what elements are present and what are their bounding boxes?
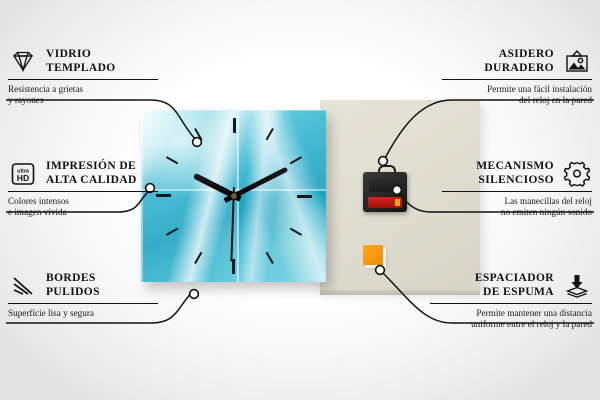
feature-divider [8,79,158,80]
feature-divider [442,79,592,80]
diamond-icon [8,49,38,75]
feature-divider [8,303,158,304]
wall-clock-product [141,110,326,282]
clock-tick [233,118,235,196]
foam-spacer-icon [562,273,592,299]
svg-text:HD: HD [17,173,29,183]
wall-hanger-icon [562,49,592,75]
feature-title: MECANISMO SILENCIOSO [476,160,554,187]
feature-espaciador-de-espuma: ESPACIADOR DE ESPUMA Permite mantener un… [430,272,592,331]
polished-edges-icon [8,273,38,299]
feature-title: ESPACIADOR DE ESPUMA [475,272,554,299]
feature-title: VIDRIO TEMPLADO [46,48,116,75]
feature-title: IMPRESIÓN DE ALTA CALIDAD [46,160,137,187]
feature-description: Superficie lisa y segura [8,308,158,319]
clock-tick [156,195,234,197]
feature-bordes-pulidos: BORDES PULIDOS Superficie lisa y segura [8,272,158,319]
feature-description: Las manecillas del reloj no emiten ningú… [442,196,592,219]
feature-header: ASIDERO DURADERO [442,48,592,75]
feature-description: Resistencia a grietas y rayones [8,84,158,107]
feature-header: MECANISMO SILENCIOSO [442,160,592,187]
feature-title: ASIDERO DURADERO [484,48,554,75]
mechanism-battery [368,197,402,208]
feature-impresion-alta-calidad: ultra HD IMPRESIÓN DE ALTA CALIDAD Color… [8,160,158,219]
feature-vidrio-templado: VIDRIO TEMPLADO Resistencia a grietas y … [8,48,158,107]
clock-mechanism [363,172,407,212]
feature-description: Permite una fácil instalación del reloj … [442,84,592,107]
feature-header: ESPACIADOR DE ESPUMA [430,272,592,299]
infographic-canvas: VIDRIO TEMPLADO Resistencia a grietas y … [0,0,600,400]
feature-header: BORDES PULIDOS [8,272,158,299]
foam-spacer-part [363,245,383,265]
ultra-hd-icon: ultra HD [8,161,38,187]
feature-title: BORDES PULIDOS [46,272,100,299]
clock-tick [234,195,312,197]
feature-description: Colores intensos e imagen vívida [8,196,158,219]
feature-mecanismo-silencioso: MECANISMO SILENCIOSO Las manecillas del … [442,160,592,219]
feature-description: Permite mantener una distancia uniforme … [430,308,592,331]
clock-center-hub [231,193,237,199]
feature-divider [8,191,158,192]
mechanism-body [363,172,407,212]
feature-asidero-duradero: ASIDERO DURADERO Permite una fácil insta… [442,48,592,107]
feature-divider [442,191,592,192]
gear-icon [562,161,592,187]
feature-header: VIDRIO TEMPLADO [8,48,158,75]
mechanism-embossing [369,178,395,192]
feature-divider [430,303,592,304]
feature-header: ultra HD IMPRESIÓN DE ALTA CALIDAD [8,160,158,187]
